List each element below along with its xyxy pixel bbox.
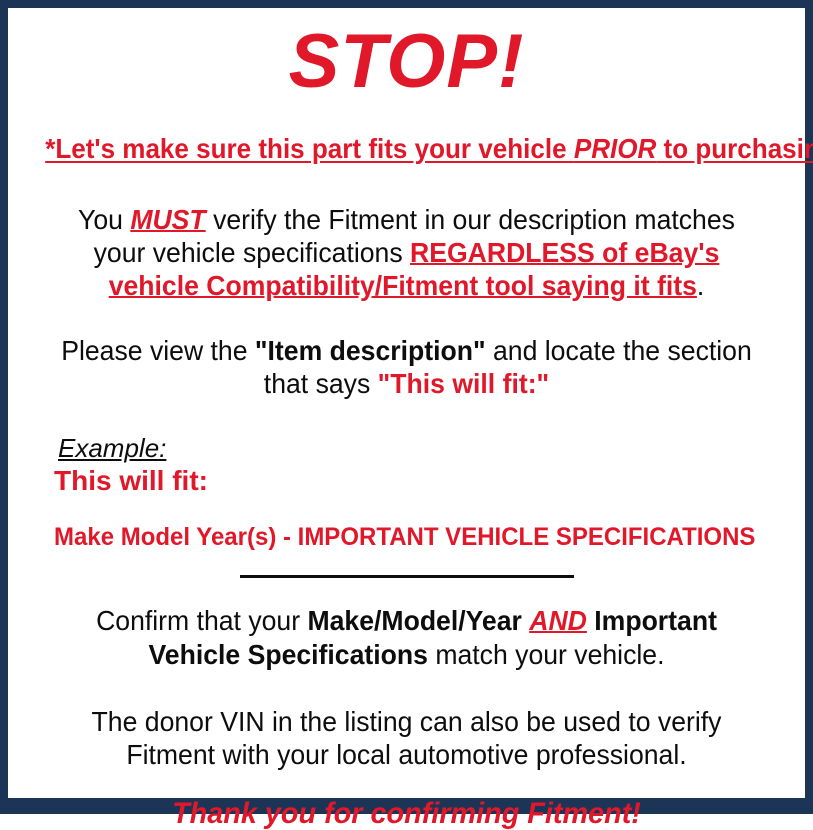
- item-description-part1: Please view the: [61, 335, 255, 366]
- confirm-space-1: [522, 605, 529, 636]
- subheadline-emphasis: PRIOR: [574, 133, 656, 164]
- make-model-year-emphasis: Make/Model/Year: [307, 605, 521, 636]
- example-spec-line: Make Model Year(s) - IMPORTANT VEHICLE S…: [54, 523, 765, 552]
- must-paragraph-part1: You: [78, 204, 130, 235]
- must-paragraph-part3: .: [697, 270, 704, 301]
- this-will-fit-quote: "This will fit:": [378, 368, 550, 399]
- subheadline-prefix: *Let's make sure this part fits your veh…: [45, 133, 574, 164]
- confirm-part1: Confirm that your: [96, 605, 307, 636]
- example-fit-heading: This will fit:: [54, 465, 795, 497]
- page-title: STOP!: [18, 24, 795, 100]
- and-emphasis: AND: [529, 605, 587, 636]
- thank-you-line: Thank you for confirming Fitment!: [34, 797, 780, 830]
- example-label: Example:: [58, 434, 795, 463]
- subheadline: *Let's make sure this part fits your veh…: [45, 134, 768, 165]
- must-emphasis: MUST: [130, 204, 205, 235]
- confirm-part2: match your vehicle.: [428, 639, 665, 670]
- confirm-paragraph: Confirm that your Make/Model/Year AND Im…: [37, 604, 775, 670]
- donor-vin-paragraph: The donor VIN in the listing can also be…: [37, 705, 775, 771]
- divider-container: [18, 575, 795, 578]
- fitment-notice-card: STOP! *Let's make sure this part fits yo…: [0, 0, 813, 814]
- fitment-notice-body: STOP! *Let's make sure this part fits yo…: [8, 24, 805, 814]
- example-block: Example: This will fit: Make Model Year(…: [18, 434, 795, 552]
- subheadline-suffix: to purchasing*: [656, 133, 813, 164]
- horizontal-rule: [240, 575, 574, 578]
- item-description-paragraph: Please view the "Item description" and l…: [37, 334, 775, 400]
- item-description-quote: "Item description": [255, 335, 486, 366]
- must-verify-paragraph: You MUST verify the Fitment in our descr…: [37, 203, 775, 302]
